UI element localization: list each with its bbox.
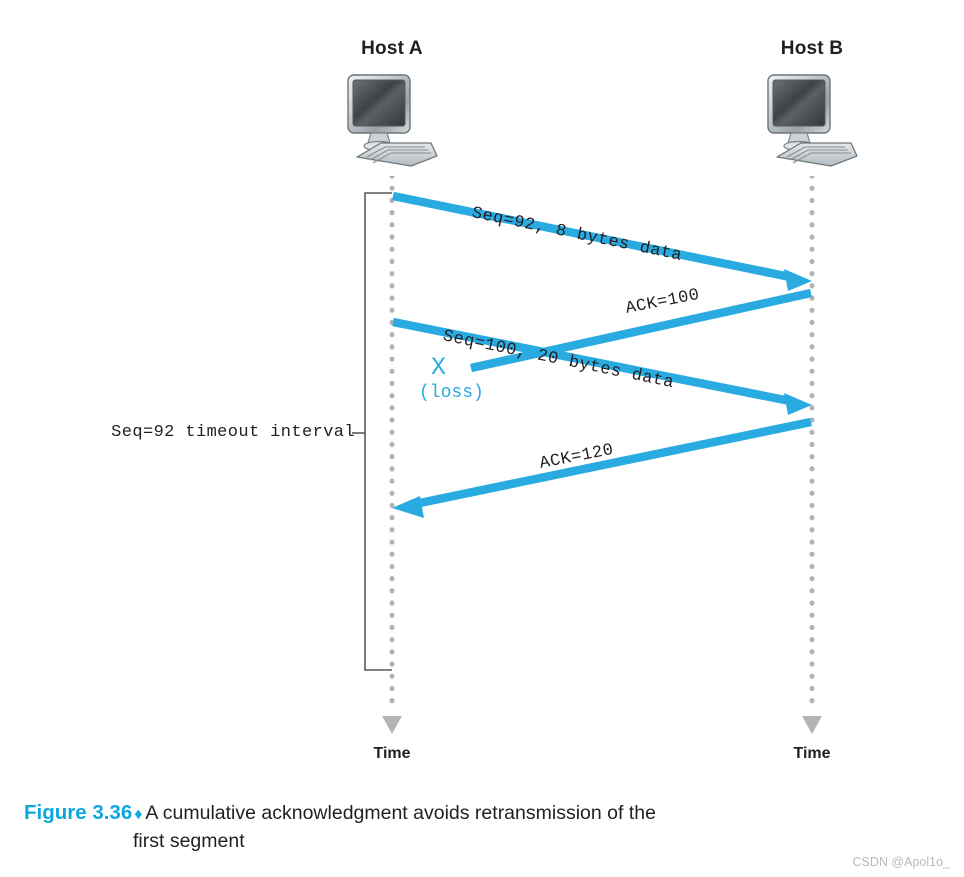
loss-x-marker: X	[431, 355, 446, 380]
caption-line-1: A cumulative acknowledgment avoids retra…	[145, 802, 656, 824]
figure-caption: Figure 3.36♦A cumulative acknowledgment …	[24, 798, 724, 855]
loss-label: (loss)	[419, 384, 484, 402]
caption-line-2: first segment	[24, 828, 724, 856]
message-arrow-ack120	[392, 422, 811, 518]
figure-3-36: Host A	[0, 0, 964, 877]
timeout-interval-label: Seq=92 timeout interval	[111, 423, 355, 442]
caption-diamond-icon: ♦	[132, 806, 145, 823]
watermark: CSDN @Apol1o_	[853, 855, 950, 869]
caption-figure-number: Figure 3.36	[24, 801, 132, 824]
host-b-time-label: Time	[793, 745, 830, 763]
host-b-time-arrowhead	[802, 716, 822, 734]
timeout-bracket	[352, 193, 392, 670]
host-a-time-arrowhead	[382, 716, 402, 734]
host-a-time-label: Time	[373, 745, 410, 763]
